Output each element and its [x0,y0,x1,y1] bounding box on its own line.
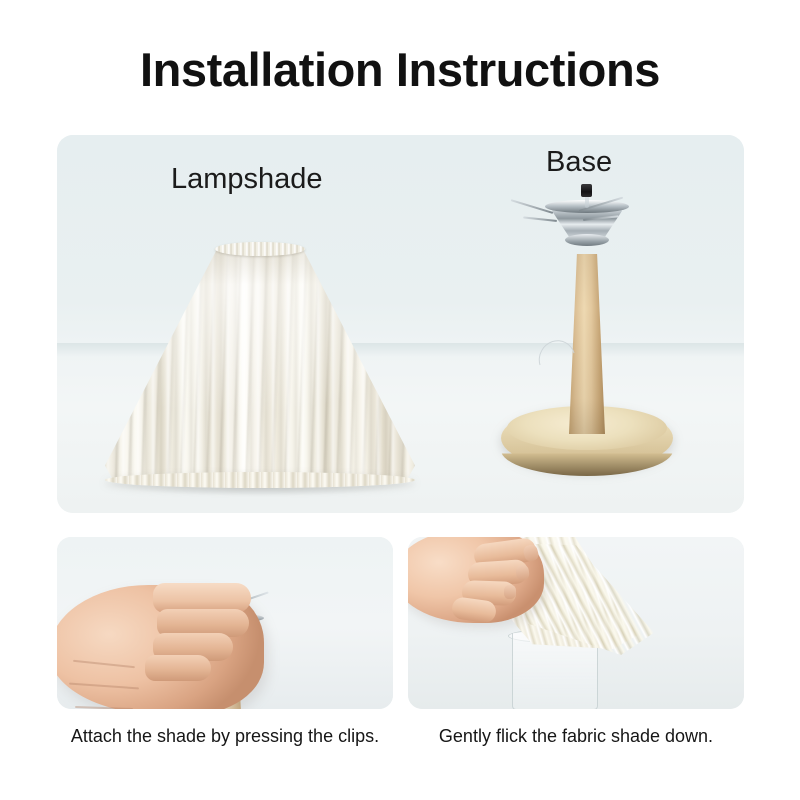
lamp-base-image [487,190,687,480]
top-scene-background: Lampshade Base [57,135,744,513]
black-knob [581,184,592,197]
bottom-left-scene-background [57,537,393,709]
caption-attach-shade: Attach the shade by pressing the clips. [57,724,393,748]
chrome-fitting-collar [565,234,609,246]
bottom-right-scene-background [408,537,744,709]
hand-crease [73,660,135,668]
lampshade-top-ring [215,242,305,256]
hand-crease [69,683,139,689]
lampshade-label: Lampshade [171,162,323,196]
base-column-shading [569,254,605,434]
finger [145,655,211,681]
lampshade-bottom-edge [105,472,415,488]
hand-crease [75,706,133,709]
base-label: Base [546,145,612,179]
lampshade-shading [105,247,415,482]
step-flick-shade-panel [408,537,744,709]
shade-clip-wire [523,216,557,222]
fingernail [504,585,516,599]
parts-overview-panel: Lampshade Base [57,135,744,513]
lampshade-image [105,247,415,482]
page-title: Installation Instructions [0,42,800,98]
caption-flick-shade: Gently flick the fabric shade down. [408,724,744,748]
step-attach-shade-panel [57,537,393,709]
